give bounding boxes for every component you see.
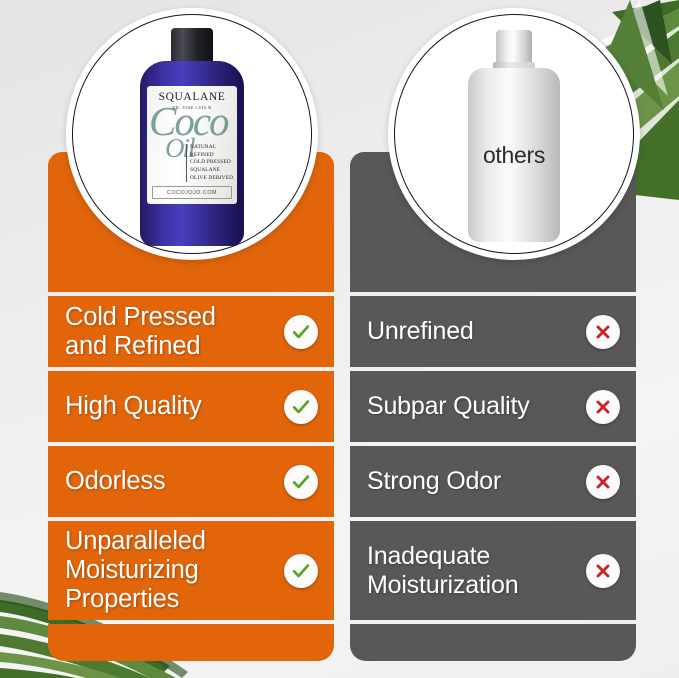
comparison-infographic: Cold Pressed and Refined High Quality Od… <box>0 0 679 678</box>
benefit-label-3: Odorless <box>65 467 165 496</box>
bottle-label-title: SQUALANE <box>147 91 237 103</box>
drawback-row-3[interactable]: Strong Odor <box>350 446 636 517</box>
benefit-row-3[interactable]: Odorless <box>48 446 334 517</box>
cross-icon <box>586 554 620 588</box>
bottle-url: COCOJOJO.COM <box>152 186 232 199</box>
check-icon <box>284 390 318 424</box>
benefit-label-1: Cold Pressed and Refined <box>65 303 216 361</box>
brand-script-main: Coco <box>149 98 228 144</box>
left-rows: Cold Pressed and Refined High Quality Od… <box>48 296 334 620</box>
drawback-label-1: Unrefined <box>367 317 474 345</box>
bottle-body <box>140 61 244 246</box>
others-medallion: others <box>388 8 640 260</box>
drawback-row-2[interactable]: Subpar Quality <box>350 371 636 442</box>
drawback-row-4[interactable]: Inadequate Moisturization <box>350 521 636 620</box>
others-medallion-inner: others <box>394 14 634 254</box>
benefit-row-2[interactable]: High Quality <box>48 371 334 442</box>
benefit-row-4[interactable]: Unparalleled Moisturizing Properties <box>48 521 334 620</box>
bottle-label-subtitle: DR. JOSE LUIS R <box>147 105 237 110</box>
cross-icon <box>586 465 620 499</box>
cross-icon <box>586 390 620 424</box>
product-medallion-inner: SQUALANE DR. JOSE LUIS R Coco Oil NATURA… <box>72 14 312 254</box>
brand-script-sub: Oil <box>165 138 227 159</box>
check-icon <box>284 554 318 588</box>
squalane-bottle: SQUALANE DR. JOSE LUIS R Coco Oil NATURA… <box>140 28 244 246</box>
benefit-label-2: High Quality <box>65 392 202 421</box>
benefit-row-1[interactable]: Cold Pressed and Refined <box>48 296 334 367</box>
others-bottle: others <box>468 30 560 242</box>
bottle-cap <box>171 28 213 68</box>
bottle-brand-script: Coco Oil <box>149 106 227 176</box>
drawback-label-3: Strong Odor <box>367 467 501 495</box>
drawback-label-2: Subpar Quality <box>367 392 530 420</box>
cross-icon <box>586 315 620 349</box>
others-bottle-neck <box>496 30 532 68</box>
left-panel-footer <box>48 624 334 661</box>
check-icon <box>284 465 318 499</box>
check-icon <box>284 315 318 349</box>
others-bottle-ring <box>493 62 535 70</box>
product-medallion: SQUALANE DR. JOSE LUIS R Coco Oil NATURA… <box>66 8 318 260</box>
right-rows: Unrefined Subpar Quality Strong Odor Ina… <box>350 296 636 620</box>
right-panel-footer <box>350 624 636 661</box>
others-bottle-label: others <box>468 142 560 169</box>
benefit-label-4: Unparalleled Moisturizing Properties <box>65 527 206 613</box>
bottle-label: SQUALANE DR. JOSE LUIS R Coco Oil NATURA… <box>147 86 237 204</box>
drawback-label-4: Inadequate Moisturization <box>367 542 518 599</box>
others-bottle-body <box>468 68 560 242</box>
bottle-descriptors: NATURAL REFINED COLD PRESSED SQUALANE OL… <box>186 144 234 182</box>
drawback-row-1[interactable]: Unrefined <box>350 296 636 367</box>
